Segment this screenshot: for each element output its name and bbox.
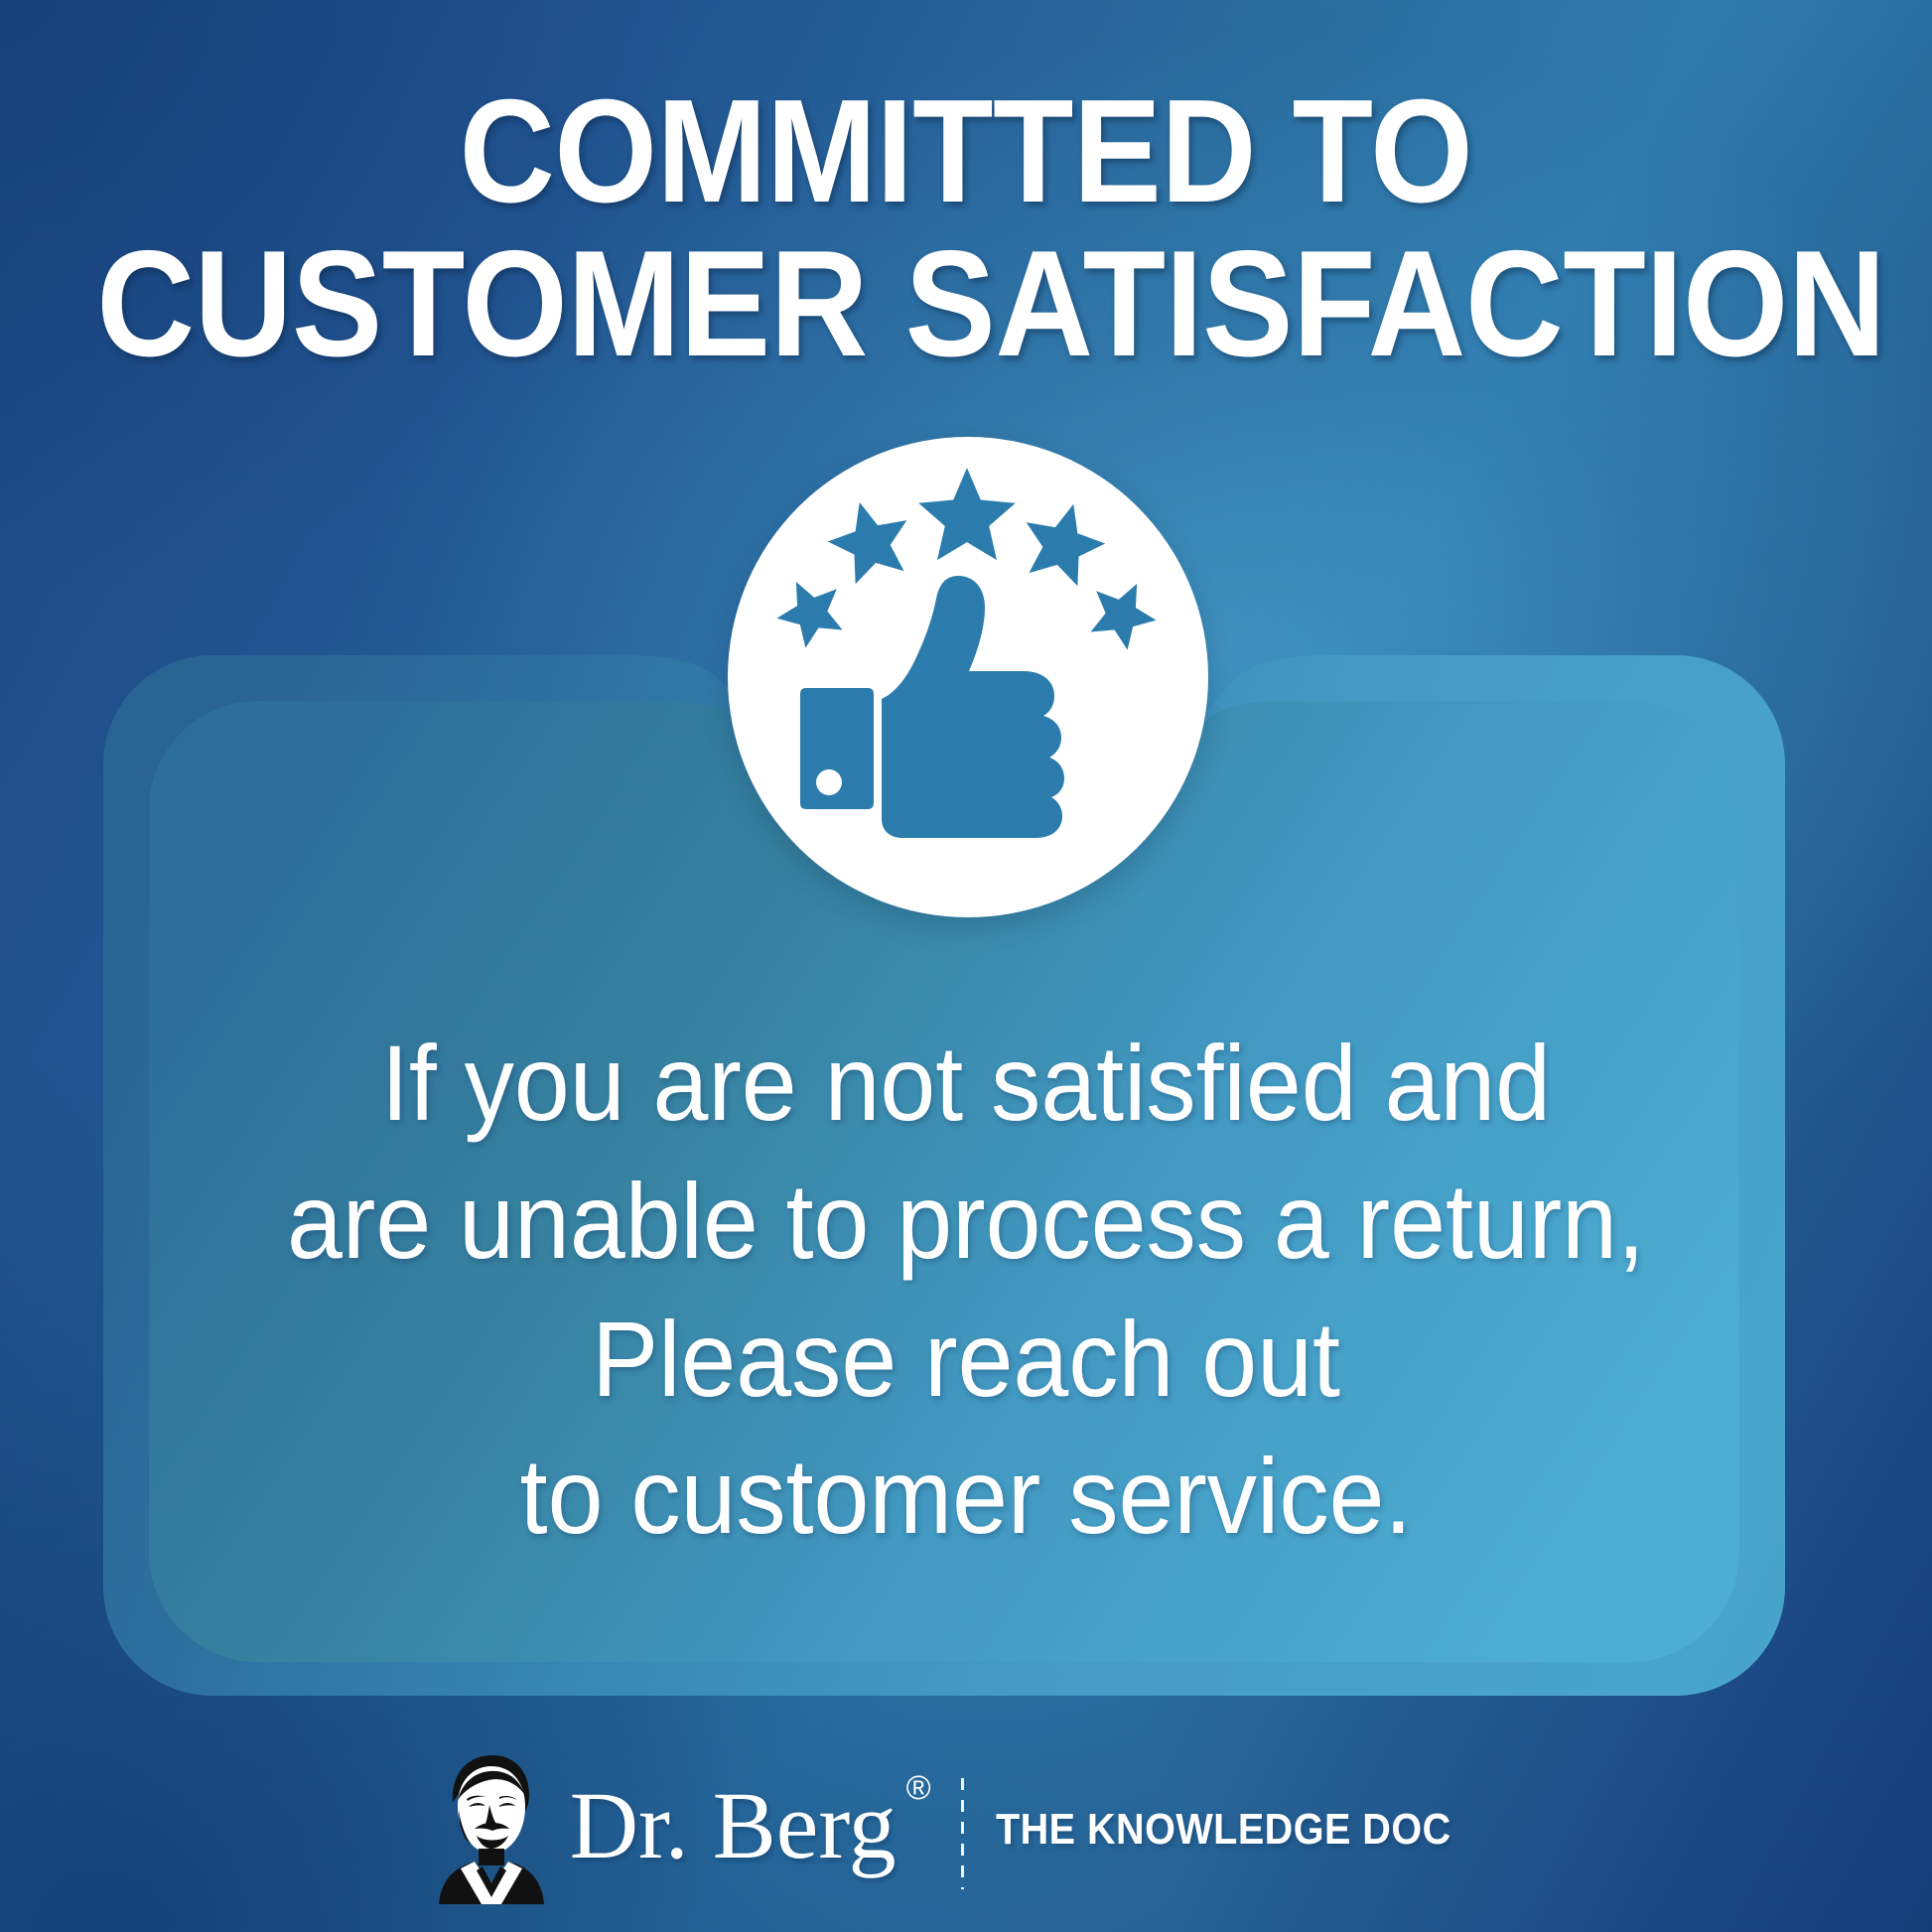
page-title-line-2: CUSTOMER SATISFACTION <box>96 227 1835 381</box>
star-icon-3 <box>918 468 1016 560</box>
star-icon-2 <box>820 491 919 588</box>
thumbs-up-cuff-button <box>816 769 842 795</box>
thumbs-up-icon <box>728 437 1208 917</box>
brand-tagline: THE KNOWLEDGE DOC <box>996 1805 1451 1855</box>
brand-name: Dr. Berg <box>570 1778 897 1873</box>
star-icon-4 <box>1014 493 1113 590</box>
brand-lockup: Dr. Berg ® THE KNOWLEDGE DOC <box>0 1745 1932 1914</box>
card-body-line-4: to customer service. <box>207 1428 1726 1566</box>
page-title: COMMITTED TO CUSTOMER SATISFACTION <box>96 77 1835 381</box>
brand-divider <box>961 1778 964 1889</box>
card-body-line-1: If you are not satisfied and <box>207 1015 1726 1153</box>
page-title-line-1: COMMITTED TO <box>96 77 1835 227</box>
dr-berg-portrait-icon <box>431 1750 548 1909</box>
star-icon-5 <box>1079 569 1167 655</box>
card-body-line-2: are unable to process a return, <box>207 1153 1726 1291</box>
card-body-text: If you are not satisfied and are unable … <box>207 1015 1726 1566</box>
satisfaction-badge <box>728 437 1208 917</box>
star-icon-1 <box>766 567 854 653</box>
registered-trademark-icon: ® <box>906 1771 931 1805</box>
card-body-line-3: Please reach out <box>207 1291 1726 1429</box>
thumbs-up-hand <box>882 576 1064 838</box>
poster-canvas: COMMITTED TO CUSTOMER SATISFACTION <box>0 0 1932 1932</box>
